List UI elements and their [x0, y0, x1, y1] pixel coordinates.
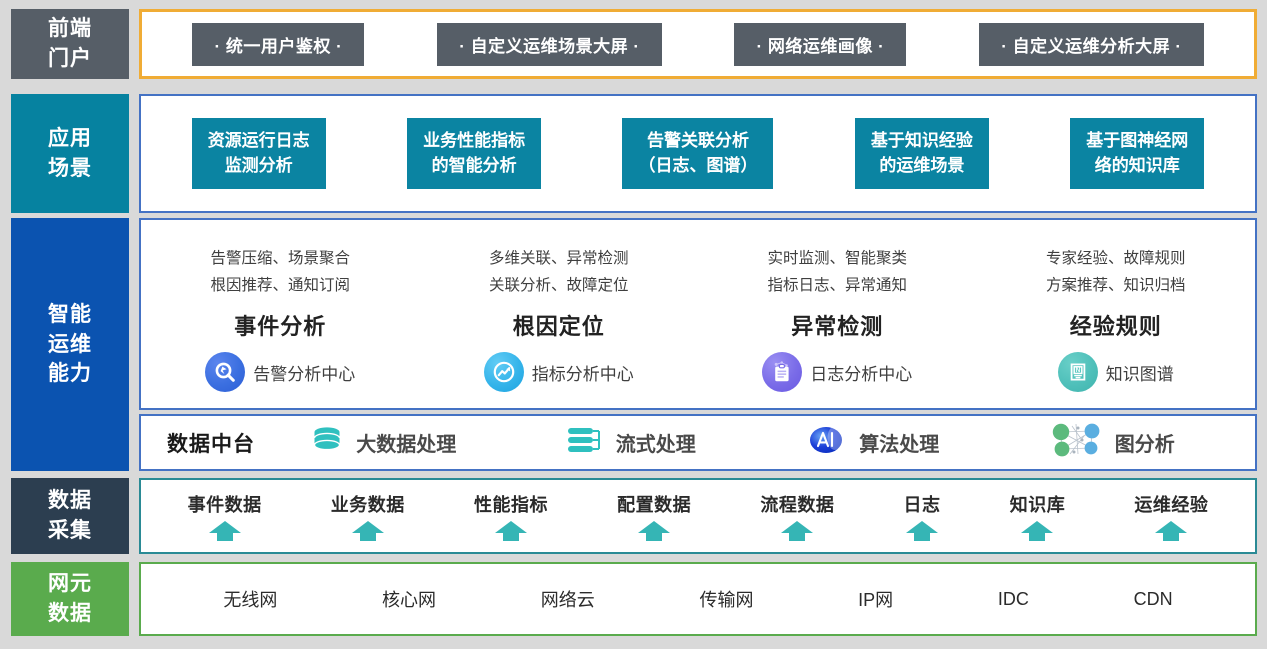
data-collection-label: 知识库: [1010, 491, 1066, 517]
capability-center-entry[interactable]: 指标分析中心: [484, 352, 634, 392]
capability-center-label: 知识图谱: [1106, 360, 1174, 385]
stream-icon: [565, 424, 605, 461]
data-collection-label: 事件数据: [188, 491, 262, 517]
data-platform-item-graph[interactable]: 图分析: [1048, 420, 1175, 465]
database-icon: [309, 425, 345, 460]
data-platform-item-label: 大数据处理: [356, 428, 456, 457]
data-platform-title: 数据中台: [167, 428, 255, 458]
portal-chip-unified-auth[interactable]: · 统一用户鉴权 ·: [192, 23, 364, 66]
data-platform-item-stream[interactable]: 流式处理: [565, 424, 696, 461]
network-element-item-cloud[interactable]: 网络云: [541, 586, 595, 612]
knowledge-doc-icon: N: [1058, 352, 1098, 392]
capability-title: 异常检测: [791, 309, 883, 341]
row-label-line: 场景: [48, 154, 92, 184]
capability-column-root-cause: 多维关联、异常检测 关联分析、故障定位 根因定位 指标分析中心: [420, 220, 699, 408]
data-platform-item-label: 算法处理: [859, 428, 939, 457]
data-collection-item-performance[interactable]: 性能指标: [474, 480, 548, 552]
capability-bullets: 多维关联、异常检测 关联分析、故障定位: [489, 246, 629, 299]
data-collection-label: 流程数据: [760, 491, 834, 517]
network-element-item-wireless[interactable]: 无线网: [223, 586, 277, 612]
up-arrow-icon: [1020, 520, 1054, 542]
data-collection-panel: 事件数据 业务数据 性能指标 配置数据 流程数据: [139, 478, 1257, 554]
row-label-line: 门户: [48, 44, 92, 74]
data-collection-label: 业务数据: [331, 491, 405, 517]
capability-center-entry[interactable]: 日志分析中心: [762, 352, 912, 392]
capability-center-label: 指标分析中心: [532, 360, 634, 385]
data-collection-label: 配置数据: [617, 491, 691, 517]
application-scenarios-panel: 资源运行日志 监测分析 业务性能指标 的智能分析 告警关联分析 （日志、图谱） …: [139, 94, 1257, 213]
row-label-line: 网元: [48, 569, 92, 599]
row-label-line: 数据: [48, 599, 92, 629]
row-label-line: 应用: [48, 124, 92, 154]
row-label-frontend-portal: 前端 门户: [11, 9, 129, 79]
capability-title: 事件分析: [234, 309, 326, 341]
up-arrow-icon: [351, 520, 385, 542]
app-chip-business-kpi-analysis[interactable]: 业务性能指标 的智能分析: [407, 118, 541, 189]
network-element-item-idc[interactable]: IDC: [998, 589, 1029, 610]
data-platform-item-label: 图分析: [1115, 428, 1175, 457]
data-collection-item-log[interactable]: 日志: [904, 480, 941, 552]
row-label-line: 智能: [48, 300, 92, 330]
up-arrow-icon: [637, 520, 671, 542]
portal-chip-custom-analysis-screen[interactable]: · 自定义运维分析大屏 ·: [979, 23, 1203, 66]
up-arrow-icon: [905, 520, 939, 542]
network-element-item-core[interactable]: 核心网: [382, 586, 436, 612]
frontend-portal-panel: · 统一用户鉴权 · · 自定义运维场景大屏 · · 网络运维画像 · · 自定…: [139, 9, 1257, 79]
metric-trend-icon: [484, 352, 524, 392]
data-platform-items: 大数据处理 流式处理: [255, 420, 1229, 465]
alarm-analysis-icon: [205, 352, 245, 392]
graph-network-icon: [1048, 420, 1104, 465]
capability-bullets: 实时监测、智能聚类 指标日志、异常通知: [767, 246, 907, 299]
ai-icon: [804, 423, 848, 462]
up-arrow-icon: [494, 520, 528, 542]
row-label-network-element-data: 网元 数据: [11, 562, 129, 636]
capability-column-experience-rules: 专家经验、故障规则 方案推荐、知识归档 经验规则 N 知识图谱: [977, 220, 1256, 408]
row-label-application-scenarios: 应用 场景: [11, 94, 129, 213]
data-collection-item-ops-experience[interactable]: 运维经验: [1134, 480, 1208, 552]
capability-center-entry[interactable]: 告警分析中心: [205, 352, 355, 392]
network-element-item-cdn[interactable]: CDN: [1134, 589, 1173, 610]
up-arrow-icon: [780, 520, 814, 542]
row-label-line: 能力: [48, 359, 92, 389]
up-arrow-icon: [1154, 520, 1188, 542]
capability-title: 经验规则: [1070, 309, 1162, 341]
svg-text:N: N: [1076, 367, 1081, 374]
app-chip-alarm-correlation[interactable]: 告警关联分析 （日志、图谱）: [622, 118, 773, 189]
capability-center-label: 告警分析中心: [253, 360, 355, 385]
row-label-line: 运维: [48, 330, 92, 360]
capability-column-anomaly-detection: 实时监测、智能聚类 指标日志、异常通知 异常检测: [698, 220, 977, 408]
data-platform-item-label: 流式处理: [616, 428, 696, 457]
network-element-item-ip[interactable]: IP网: [858, 586, 893, 612]
data-collection-label: 日志: [904, 491, 941, 517]
data-collection-item-process[interactable]: 流程数据: [760, 480, 834, 552]
aiops-architecture-diagram: 前端 门户 · 统一用户鉴权 · · 自定义运维场景大屏 · · 网络运维画像 …: [0, 0, 1267, 649]
capability-column-event-analysis: 告警压缩、场景聚合 根因推荐、通知订阅 事件分析 告警分析中心: [141, 220, 420, 408]
capability-bullets: 专家经验、故障规则 方案推荐、知识归档: [1046, 246, 1186, 299]
data-platform-item-bigdata[interactable]: 大数据处理: [309, 425, 456, 460]
row-label-line: 数据: [48, 486, 92, 516]
row-label-data-collection: 数据 采集: [11, 478, 129, 554]
app-chip-resource-log-monitoring[interactable]: 资源运行日志 监测分析: [192, 118, 326, 189]
data-collection-item-event[interactable]: 事件数据: [188, 480, 262, 552]
portal-chip-custom-ops-screen[interactable]: · 自定义运维场景大屏 ·: [437, 23, 661, 66]
app-chip-gnn-knowledge-base[interactable]: 基于图神经网 络的知识库: [1070, 118, 1204, 189]
aiops-capability-panel: 告警压缩、场景聚合 根因推荐、通知订阅 事件分析 告警分析中心 多维关联、异常检…: [139, 218, 1257, 410]
network-element-panel: 无线网 核心网 网络云 传输网 IP网 IDC CDN: [139, 562, 1257, 636]
capability-bullets: 告警压缩、场景聚合 根因推荐、通知订阅: [210, 246, 350, 299]
data-collection-item-knowledge-base[interactable]: 知识库: [1010, 480, 1066, 552]
up-arrow-icon: [208, 520, 242, 542]
data-collection-label: 运维经验: [1134, 491, 1208, 517]
data-platform-panel: 数据中台 大数据处理: [139, 414, 1257, 471]
data-collection-item-config[interactable]: 配置数据: [617, 480, 691, 552]
app-chip-knowledge-based-ops[interactable]: 基于知识经验 的运维场景: [855, 118, 989, 189]
network-element-item-transport[interactable]: 传输网: [699, 586, 753, 612]
data-platform-item-algorithm[interactable]: 算法处理: [804, 423, 939, 462]
data-collection-label: 性能指标: [474, 491, 548, 517]
row-label-line: 采集: [48, 516, 92, 546]
row-label-line: 前端: [48, 14, 92, 44]
row-label-aiops-capability: 智能 运维 能力: [11, 218, 129, 471]
capability-center-entry[interactable]: N 知识图谱: [1058, 352, 1174, 392]
capability-title: 根因定位: [513, 309, 605, 341]
data-collection-item-business[interactable]: 业务数据: [331, 480, 405, 552]
log-clipboard-icon: [762, 352, 802, 392]
capability-center-label: 日志分析中心: [810, 360, 912, 385]
portal-chip-network-ops-profile[interactable]: · 网络运维画像 ·: [734, 23, 906, 66]
